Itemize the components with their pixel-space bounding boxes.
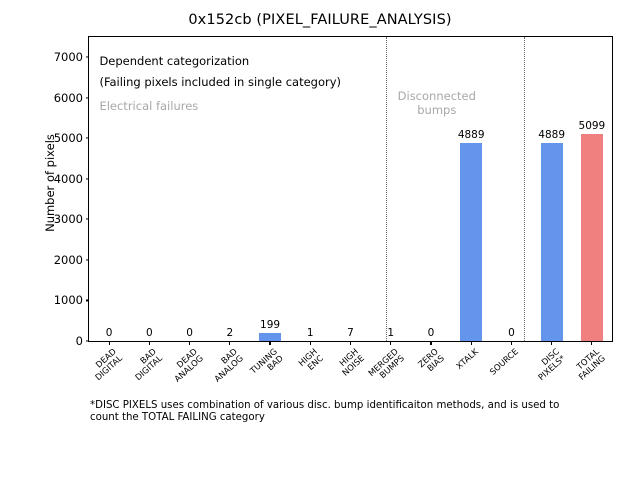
y-axis-tick-label: 4000: [54, 172, 83, 186]
bar: [541, 143, 563, 341]
x-axis-tick-label: HIGHNOISE: [334, 347, 366, 378]
x-axis-tick-mark: [109, 341, 110, 345]
y-axis-tick-label: 1000: [54, 293, 83, 307]
x-axis-tick-label-line: XTALK: [455, 347, 481, 371]
plot-inner: 010002000300040005000600070000DEADDIGITA…: [89, 37, 612, 341]
y-axis-tick-label: 0: [76, 334, 83, 348]
bar: [581, 134, 603, 341]
x-axis-tick-mark: [390, 341, 391, 345]
bar-value-label: 7: [347, 327, 354, 339]
divider-electrical-disconnected: [386, 37, 387, 341]
x-axis-tick-label: TUNINGBAD: [249, 347, 286, 383]
y-axis-tick-mark: [86, 138, 90, 139]
y-axis-tick-mark: [86, 219, 90, 220]
bar-value-label: 0: [508, 327, 515, 339]
divider-disconnected-total: [524, 37, 525, 341]
annotation-dependent-categorization: Dependent categorization: [99, 54, 249, 68]
bar-value-label: 199: [260, 319, 280, 331]
bar-value-label: 1: [387, 327, 394, 339]
x-axis-tick-label: BADDIGITAL: [128, 347, 165, 383]
y-axis-tick-label: 7000: [54, 50, 83, 64]
x-axis-tick-label: MERGEDBUMPS: [367, 347, 407, 385]
bar-value-label: 2: [226, 327, 233, 339]
x-axis-tick-label: BADANALOG: [207, 347, 246, 385]
x-axis-tick-label: DEADDIGITAL: [88, 347, 125, 383]
y-axis-tick-mark: [86, 300, 90, 301]
bar-value-label: 4889: [538, 129, 565, 141]
x-axis-tick-label: SOURCE: [489, 347, 521, 377]
x-axis-tick-mark: [430, 341, 431, 345]
x-axis-tick-mark: [350, 341, 351, 345]
y-axis-tick-mark: [86, 178, 90, 179]
bar: [460, 143, 482, 341]
bar-value-label: 0: [428, 327, 435, 339]
y-axis-tick-mark: [86, 97, 90, 98]
y-axis-tick-label: 5000: [54, 131, 83, 145]
bar-value-label: 4889: [458, 129, 485, 141]
y-axis-tick-mark: [86, 259, 90, 260]
x-axis-tick-label: DISCPIXELS*: [530, 347, 567, 383]
x-axis-tick-mark: [189, 341, 190, 345]
x-axis-tick-mark: [269, 341, 270, 345]
y-axis-tick-mark: [86, 57, 90, 58]
annotation-electrical-failures: Electrical failures: [99, 99, 198, 113]
bar-value-label: 0: [186, 327, 193, 339]
chart-figure: 0x152cb (PIXEL_FAILURE_ANALYSIS) Number …: [0, 0, 640, 480]
chart-title: 0x152cb (PIXEL_FAILURE_ANALYSIS): [0, 12, 640, 28]
plot-area: Number of pixels 01000200030004000500060…: [88, 36, 613, 342]
annotation-failing-pixels-note: (Failing pixels included in single categ…: [99, 75, 341, 89]
x-axis-tick-label: HIGHENC: [297, 347, 326, 375]
x-axis-tick-label-line: SOURCE: [489, 347, 521, 377]
x-axis-tick-label: DEADANALOG: [166, 347, 205, 385]
bar-value-label: 1: [307, 327, 314, 339]
chart-footnote: *DISC PIXELS uses combination of various…: [90, 400, 590, 425]
annotation-disconnected-bumps: Disconnected bumps: [382, 90, 492, 117]
y-axis-tick-label: 6000: [54, 91, 83, 105]
bar-value-label: 0: [106, 327, 113, 339]
x-axis-tick-mark: [149, 341, 150, 345]
y-axis-tick-label: 3000: [54, 212, 83, 226]
x-axis-tick-label: TOTALFAILING: [571, 347, 607, 382]
x-axis-tick-mark: [591, 341, 592, 345]
x-axis-tick-mark: [471, 341, 472, 345]
bar-value-label: 0: [146, 327, 153, 339]
x-axis-tick-mark: [511, 341, 512, 345]
y-axis-tick-label: 2000: [54, 253, 83, 267]
x-axis-tick-mark: [229, 341, 230, 345]
x-axis-tick-label: XTALK: [455, 347, 481, 371]
x-axis-tick-mark: [551, 341, 552, 345]
bar-value-label: 5099: [579, 120, 606, 132]
bar: [259, 333, 281, 341]
x-axis-tick-mark: [310, 341, 311, 345]
x-axis-tick-label: ZEROBIAS: [417, 347, 447, 377]
y-axis-tick-mark: [86, 340, 90, 341]
